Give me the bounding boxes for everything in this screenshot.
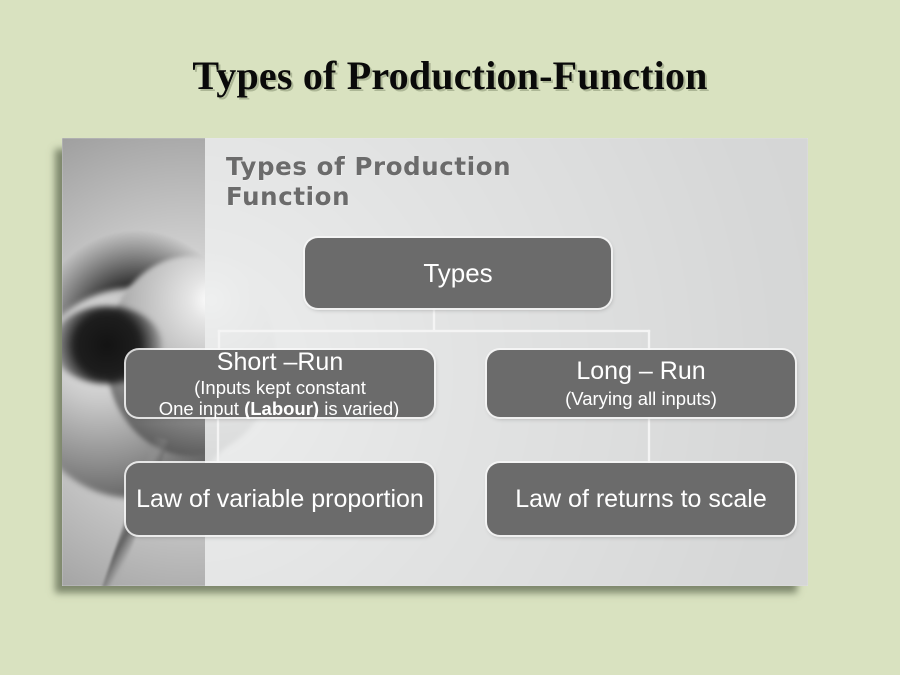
figure-heading-line-2: Function: [226, 182, 696, 212]
diagram-node-law-of-returns-to-scale-label: Law of returns to scale: [515, 484, 767, 515]
embedded-diagram-image: Types of Production Function Types Short…: [62, 138, 808, 586]
diagram-node-law-of-variable-proportion-label: Law of variable proportion: [136, 484, 424, 515]
page-title: Types of Production-Function: [0, 52, 900, 99]
figure-heading: Types of Production Function: [226, 152, 696, 212]
diagram-node-long-run: Long – Run (Varying all inputs): [487, 350, 795, 417]
connector-horizontal-bar: [218, 330, 650, 332]
diagram-node-types-label: Types: [423, 259, 492, 288]
diagram-node-long-run-sub: (Varying all inputs): [565, 388, 717, 409]
short-run-sub-2-pre: One input: [159, 398, 244, 419]
figure-heading-line-1: Types of Production: [226, 152, 511, 181]
diagram-node-short-run-title: Short –Run: [217, 349, 343, 377]
connector-to-long-run: [648, 330, 650, 351]
short-run-sub-2-post: is varied): [319, 398, 399, 419]
diagram-node-short-run-sub-2: One input (Labour) is varied): [159, 399, 400, 420]
connector-long-run-to-law: [648, 417, 650, 463]
diagram-node-long-run-title: Long – Run: [576, 358, 705, 386]
connector-short-run-to-law: [217, 417, 219, 463]
connector-root-down: [433, 308, 435, 331]
diagram-node-short-run-sub-1: (Inputs kept constant: [194, 378, 366, 399]
diagram-node-law-of-variable-proportion: Law of variable proportion: [126, 463, 434, 535]
short-run-sub-2-bold: (Labour): [244, 398, 319, 419]
diagram-node-law-of-returns-to-scale: Law of returns to scale: [487, 463, 795, 535]
diagram-node-short-run: Short –Run (Inputs kept constant One inp…: [126, 350, 434, 417]
diagram-node-types: Types: [305, 238, 611, 308]
